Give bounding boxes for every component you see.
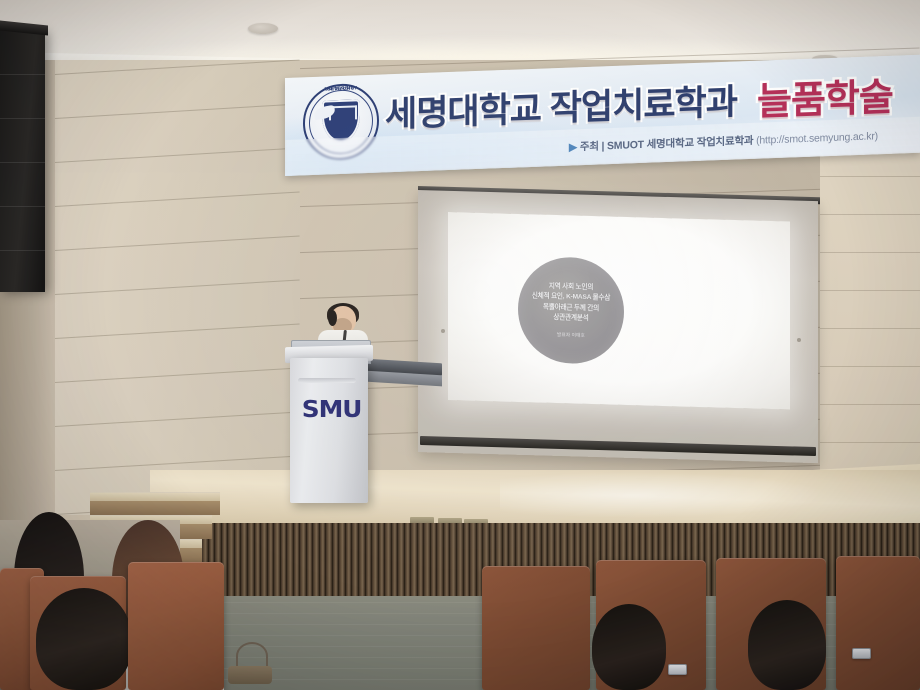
ceiling-speaker-icon [248, 23, 278, 34]
slide-title-text: 지역 사회 노인의 신체적 요인, K-MASA 물수삼 목뿔아래근 두께 간의… [532, 281, 610, 324]
attendee-4 [592, 604, 666, 690]
attendee-3 [36, 588, 132, 690]
slide-title-circle: 지역 사회 노인의 신체적 요인, K-MASA 물수삼 목뿔아래근 두께 간의… [518, 256, 624, 365]
podium-logo: SMU [302, 397, 362, 423]
line-array-speaker [0, 30, 45, 292]
stage-floor-sheen [500, 472, 830, 518]
phone-2[interactable] [852, 648, 871, 659]
banner-title-accent: 늘품학술 [757, 66, 893, 126]
seal-text-bottom: UNIVERSITY [305, 85, 377, 94]
attendee-4-hair [592, 604, 666, 690]
wall-column-lit-face [55, 60, 300, 515]
bullet-icon: ▶ [569, 141, 577, 153]
bag [228, 666, 272, 684]
lectern [290, 358, 368, 503]
attendee-5-hair [748, 600, 826, 690]
list-item-seat-4[interactable] [482, 566, 590, 690]
slide-title-line-3: 목뿔아래근 두께 간의 [532, 302, 610, 314]
step-riser-1 [90, 501, 220, 515]
cove-light-glow [60, 36, 920, 62]
auditorium-photo: SEMYUNG UNIVERSITY 세명대학교 작업치료학과 늘품학술 ▶주최… [0, 0, 920, 690]
screen-hook-left [441, 329, 445, 333]
projection-screen-surface: 지역 사회 노인의 신체적 요인, K-MASA 물수삼 목뿔아래근 두께 간의… [448, 212, 790, 410]
podium-groove [298, 378, 356, 383]
attendee-3-hair [36, 588, 132, 690]
list-item-seat-7[interactable] [836, 556, 920, 690]
phone-1[interactable] [668, 664, 687, 675]
slide-presenter-credit: 발표자 이태호 [557, 332, 585, 339]
presenter-hair-side [328, 310, 337, 326]
list-item-seat-3[interactable] [128, 562, 224, 690]
screen-hook-right [797, 338, 801, 342]
attendee-5 [748, 600, 826, 690]
